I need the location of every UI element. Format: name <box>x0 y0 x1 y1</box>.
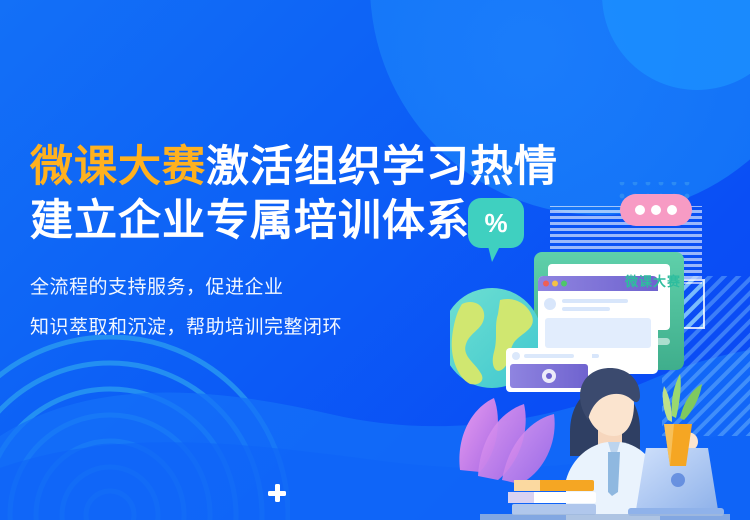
copy-block: 微课大赛激活组织学习热情 建立企业专属培训体系 全流程的支持服务，促进企业 知识… <box>30 140 680 348</box>
decor-leaves <box>459 398 554 484</box>
headline-line-1: 微课大赛激活组织学习热情 <box>30 140 680 194</box>
subtitle-line-2: 知识萃取和沉淀，帮助培训完整闭环 <box>30 308 680 348</box>
book-stack <box>508 480 596 515</box>
headline-line-1-rest: 激活组织学习热情 <box>206 143 558 191</box>
headline-accent: 微课大赛 <box>30 143 206 191</box>
headline-line-2: 建立企业专属培训体系 <box>30 194 680 248</box>
subtitle-line-1: 全流程的支持服务，促进企业 <box>30 268 680 308</box>
desk-surface <box>480 514 730 520</box>
promo-banner: % <box>0 0 750 520</box>
sparkle-plus-icon <box>268 484 286 502</box>
video-card <box>506 348 592 392</box>
